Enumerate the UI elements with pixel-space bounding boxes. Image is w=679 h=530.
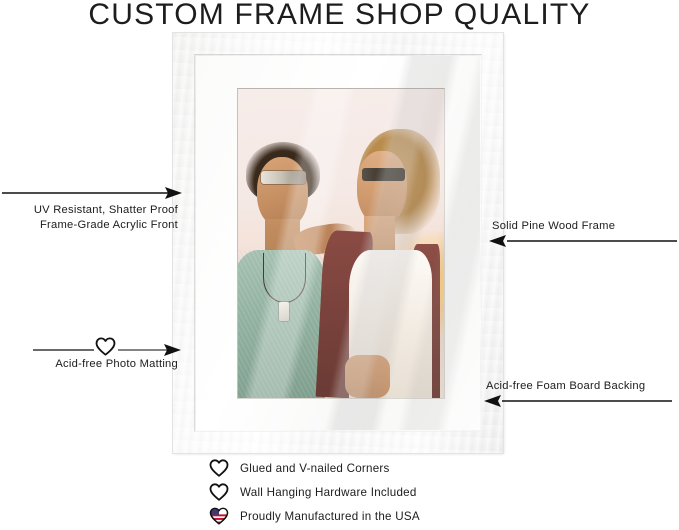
framed-photo <box>238 89 444 398</box>
list-item: Proudly Manufactured in the USA <box>209 504 509 528</box>
picture-frame <box>173 33 503 453</box>
feature-label: Proudly Manufactured in the USA <box>235 510 420 523</box>
photo-man-pendant <box>279 302 288 321</box>
feature-label: Glued and V-nailed Corners <box>235 462 390 475</box>
annotation-foam-backing-line1: Acid-free Foam Board Backing <box>486 379 678 394</box>
heart-icon <box>209 482 235 502</box>
annotation-acrylic-front: UV Resistant, Shatter Proof Frame-Grade … <box>0 203 178 232</box>
mat-opening <box>237 88 445 399</box>
list-item: Wall Hanging Hardware Included <box>209 480 509 504</box>
annotation-photo-matting: Acid-free Photo Matting <box>0 357 178 372</box>
photo-woman-arm <box>345 355 390 398</box>
list-item: Glued and V-nailed Corners <box>209 456 509 480</box>
photo-man-face <box>257 157 309 228</box>
arrow-left-icon-foam-backing <box>484 394 672 408</box>
annotation-acrylic-front-line1: UV Resistant, Shatter Proof <box>0 203 178 218</box>
photo-mat <box>196 56 480 430</box>
arrow-right-icon-acrylic <box>2 186 182 200</box>
annotation-pine-frame: Solid Pine Wood Frame <box>492 219 678 234</box>
annotation-photo-matting-line1: Acid-free Photo Matting <box>0 357 178 372</box>
photo-man-sunglasses <box>261 171 306 184</box>
photo-man-necklace <box>263 253 306 303</box>
arrow-left-icon-pine-frame <box>489 234 677 248</box>
heart-icon <box>209 458 235 478</box>
photo-woman-sunglasses <box>362 168 405 182</box>
feature-label: Wall Hanging Hardware Included <box>235 486 417 499</box>
photo-woman-face <box>357 151 406 225</box>
feature-list: Glued and V-nailed Corners Wall Hanging … <box>209 456 509 528</box>
annotation-foam-backing: Acid-free Foam Board Backing <box>486 379 678 394</box>
heart-flag-usa-icon <box>209 506 235 526</box>
annotation-acrylic-front-line2: Frame-Grade Acrylic Front <box>0 218 178 233</box>
annotation-pine-frame-line1: Solid Pine Wood Frame <box>492 219 678 234</box>
page-title: CUSTOM FRAME SHOP QUALITY <box>0 0 679 32</box>
